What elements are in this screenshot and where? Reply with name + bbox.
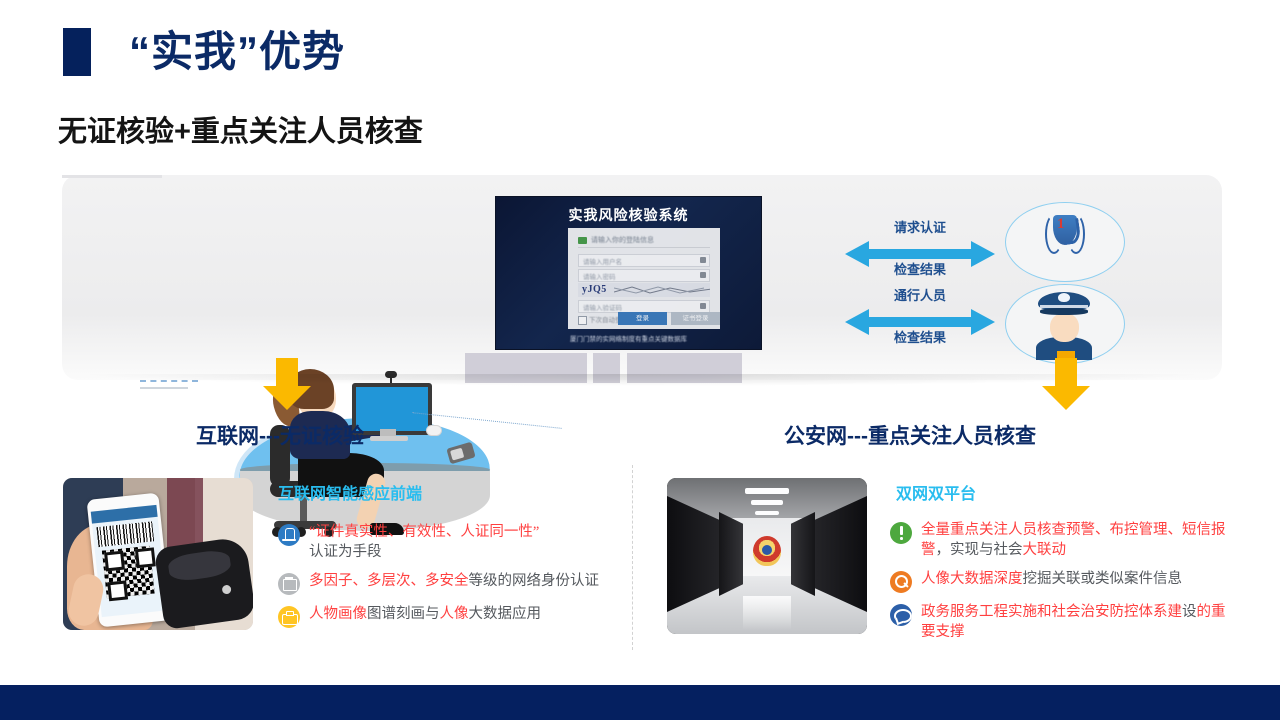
- text-part: 政务服务工程实施和社会治安防控体系建: [921, 604, 1182, 620]
- left-list-heading: 互联网智能感应前端: [278, 480, 422, 504]
- login-form-header: 请输入你的登陆信息: [578, 236, 710, 248]
- monitor-screen: [352, 383, 432, 435]
- list-item: “证件真实性、有效性、人证同一性” 认证为手段: [278, 522, 608, 562]
- qr-finder-tr: [135, 547, 156, 568]
- cert-login-button[interactable]: 证书登录: [671, 312, 720, 325]
- panel-shadow: [75, 374, 1210, 386]
- list-item: 全量重点关注人员核查预警、布控管理、短信报警，实现与社会大联动: [890, 520, 1230, 560]
- page-title: “实我”优势: [63, 28, 345, 76]
- server-rack-left-inner: [719, 512, 743, 596]
- list-item: 多因子、多层次、多安全等级的网络身份认证: [278, 571, 608, 595]
- username-placeholder: 请输入用户名: [583, 256, 622, 266]
- captcha-noise-lines: [614, 284, 710, 296]
- password-field[interactable]: 请输入密码: [578, 269, 710, 282]
- chat-icon: [890, 604, 912, 626]
- police-officer-icon: [1030, 288, 1098, 360]
- arrow-head: [263, 386, 311, 410]
- arrow-head: [1042, 386, 1090, 410]
- down-arrow-left: [263, 358, 311, 410]
- text-part: 设: [1182, 604, 1197, 620]
- data-center-photo: [667, 478, 867, 634]
- arrow-top-label: 请求认证: [845, 217, 995, 236]
- slide-root: “实我”优势 无证核验+重点关注人员核查: [0, 0, 1280, 720]
- lamp-icon: [278, 524, 300, 546]
- list-item-text: “证件真实性、有效性、人证同一性” 认证为手段: [309, 522, 539, 562]
- qr-finder-tl: [104, 551, 125, 572]
- lock-icon: [700, 272, 706, 278]
- floor-reflection: [743, 596, 791, 630]
- text-part: 大数据应用: [469, 606, 542, 622]
- title-accent-bar: [63, 28, 91, 76]
- qr-finder-bl: [107, 580, 128, 601]
- section-heading-left: 互联网---无证核验: [196, 420, 364, 450]
- arrow-shaft: [276, 358, 298, 388]
- search-icon: [890, 571, 912, 593]
- text-part: 等级的网络身份认证: [469, 573, 600, 589]
- arrow-shaft: [1055, 358, 1077, 388]
- text-part: ，实现与社会: [936, 542, 1023, 558]
- system-screen-footer: 厦门门禁的实网络制度有重点关键数据库: [496, 333, 761, 343]
- text-part: 多因子、多层次、多安全: [309, 573, 469, 589]
- captcha-text: yJQ5: [582, 284, 607, 295]
- camera-icon: [278, 606, 300, 628]
- column-divider: [632, 465, 633, 650]
- system-screen: 实我风险核验系统 请输入你的登陆信息 请输入用户名 请输入密码 yJQ5: [495, 196, 762, 350]
- remember-checkbox[interactable]: [578, 316, 587, 325]
- list-item-text: 人像大数据深度挖掘关联或类似案件信息: [921, 569, 1182, 589]
- info-icon: [578, 237, 587, 244]
- text-part: 人像大数据深度: [921, 571, 1023, 587]
- text-part: “证件真实性、有效性、人证同一性”: [309, 524, 539, 540]
- left-bullet-list: “证件真实性、有效性、人证同一性” 认证为手段 多因子、多层次、多安全等级的网络…: [278, 522, 608, 637]
- list-item: 人像大数据深度挖掘关联或类似案件信息: [890, 569, 1230, 593]
- down-arrow-right: [1042, 358, 1090, 410]
- flow-arrow-pass: 通行人员 检查结果: [845, 305, 995, 339]
- right-bullet-list: 全量重点关注人员核查预警、布控管理、短信报警，实现与社会大联动 人像大数据深度挖…: [890, 520, 1230, 651]
- scanner-highlight: [167, 548, 232, 582]
- arrow-bottom-label: 检查结果: [845, 259, 995, 278]
- password-placeholder: 请输入密码: [583, 271, 616, 281]
- section-heading-right: 公安网---重点关注人员核查: [784, 420, 1036, 450]
- login-form: 请输入你的登陆信息 请输入用户名 请输入密码 yJQ5 请输入验证码: [568, 228, 720, 329]
- list-item-text: 多因子、多层次、多安全等级的网络身份认证: [309, 571, 599, 591]
- officer-cap-brim: [1040, 308, 1088, 315]
- text-part: 挖掘关联或类似案件信息: [1023, 571, 1183, 587]
- server-rack-right-inner: [791, 512, 815, 596]
- ceiling-light: [751, 500, 783, 505]
- list-item-text: 人物画像图谱刻画与人像大数据应用: [309, 604, 541, 624]
- list-item-text: 全量重点关注人员核查预警、布控管理、短信报警，实现与社会大联动: [921, 520, 1230, 560]
- barcode-scanner-device: [154, 536, 253, 630]
- mouse-icon: [426, 425, 442, 436]
- wall-line: [62, 175, 162, 178]
- text-part: 人物画像: [309, 606, 367, 622]
- text-part: 图谱刻画与: [367, 606, 440, 622]
- police-emblem-icon: [753, 536, 781, 566]
- officer-cap-badge: [1058, 293, 1070, 302]
- page-subtitle: 无证核验+重点关注人员核查: [58, 108, 423, 150]
- right-list-heading: 双网双平台: [896, 480, 976, 504]
- list-item-text: 政务服务工程实施和社会治安防控体系建设的重要支撑: [921, 602, 1230, 642]
- system-screen-title: 实我风险核验系统: [496, 205, 761, 225]
- captcha-image[interactable]: yJQ5: [578, 283, 710, 297]
- list-item: 人物画像图谱刻画与人像大数据应用: [278, 604, 608, 628]
- captcha-placeholder: 请输入验证码: [583, 302, 622, 312]
- scanner-indicator: [222, 584, 232, 594]
- exclamation-icon: [890, 522, 912, 544]
- text-part: 认证为手段: [309, 544, 382, 560]
- decor-line: [140, 387, 188, 389]
- operator-at-desk-illustration: [212, 363, 502, 548]
- login-button[interactable]: 登录: [618, 312, 667, 325]
- card-icon: [278, 573, 300, 595]
- ceiling-light: [755, 511, 779, 515]
- arrow-bottom-label: 检查结果: [845, 327, 995, 346]
- login-header-text: 请输入你的登陆信息: [591, 235, 654, 245]
- ceiling-light: [745, 488, 789, 494]
- shield-icon: [700, 303, 706, 309]
- phone-qr-scanner-photo: [63, 478, 253, 630]
- arrow-top-label: 通行人员: [845, 285, 995, 304]
- text-part: 大联动: [1023, 542, 1067, 558]
- user-icon: [700, 257, 706, 263]
- list-item: 政务服务工程实施和社会治安防控体系建设的重要支撑: [890, 602, 1230, 642]
- text-part: 人像: [440, 606, 469, 622]
- title-text: “实我”优势: [129, 28, 345, 76]
- username-field[interactable]: 请输入用户名: [578, 254, 710, 267]
- shield-badge-icon: 1: [1045, 212, 1085, 256]
- flow-arrow-auth: 请求认证 检查结果: [845, 237, 995, 271]
- footer-bar: [0, 685, 1280, 720]
- monitor-base: [370, 436, 408, 441]
